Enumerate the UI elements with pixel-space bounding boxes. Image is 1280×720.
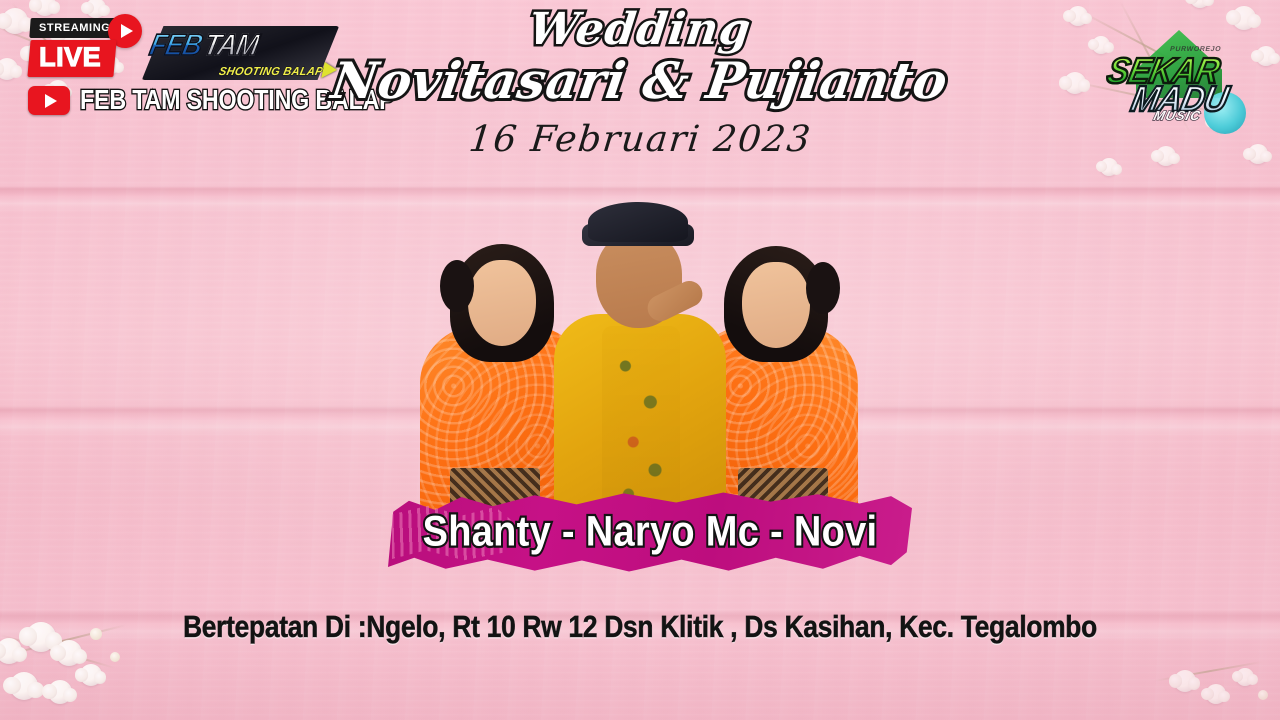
sekar-word-music: MUSIC xyxy=(1152,108,1203,123)
person-center-man xyxy=(550,202,730,526)
headline-couple-names: Novitasari & Pujianto xyxy=(329,54,952,108)
performers-name-banner: Shanty - Naryo Mc - Novi xyxy=(388,486,912,578)
headline-date: 16 Februari 2023 xyxy=(467,122,813,158)
livestream-overlay-poster: STREAMING LIVE FEBTAM SHOOTING BALAP FEB… xyxy=(0,0,1280,720)
event-address: Bertepatan Di :Ngelo, Rt 10 Rw 12 Dsn Kl… xyxy=(19,610,1261,645)
wedding-headline: Wedding Novitasari & Pujianto 16 Februar… xyxy=(0,8,1280,158)
headline-wedding: Wedding xyxy=(526,8,753,52)
sekar-madu-logo: PURWOREJO SEKAR MADU MUSIC xyxy=(1108,28,1258,136)
performers-photo xyxy=(398,196,878,526)
performers-names: Shanty - Naryo Mc - Novi xyxy=(388,480,912,583)
